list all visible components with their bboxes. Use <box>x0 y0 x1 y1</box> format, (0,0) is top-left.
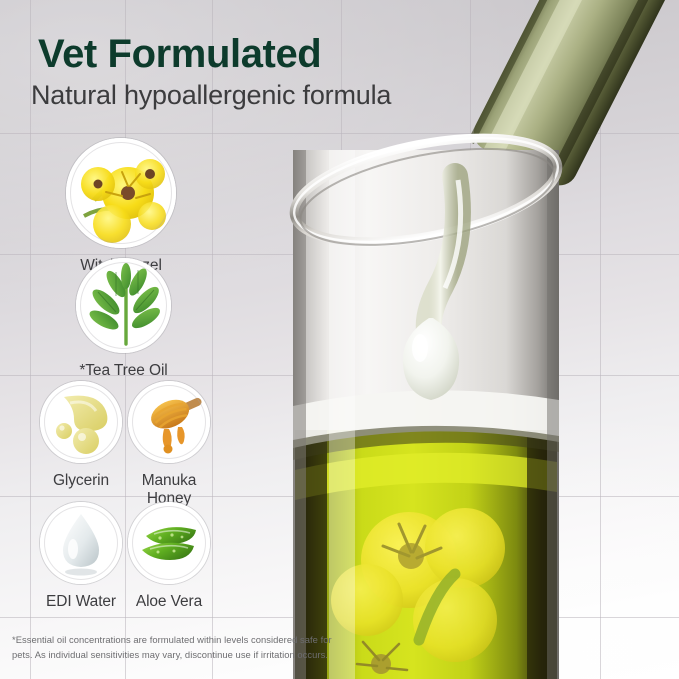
honey-dipper-icon <box>128 381 210 463</box>
ingredient-label: *Tea Tree Oil <box>79 362 167 380</box>
page-subtitle: Natural hypoallergenic formula <box>31 80 391 111</box>
yellow-flowers-icon <box>66 138 176 248</box>
footnote-disclaimer: *Essential oil concentrations are formul… <box>12 632 342 662</box>
ingredient-label: Glycerin <box>53 472 109 490</box>
glass-vial <box>293 150 559 679</box>
ingredient-edi-water: EDI Water <box>40 502 122 611</box>
ingredient-aloe-vera: Aloe Vera <box>128 502 210 611</box>
ingredient-witch-hazel: Witch Hazel <box>66 138 176 275</box>
oil-droplets-icon <box>40 381 122 463</box>
ingredient-label: EDI Water <box>46 593 116 611</box>
ingredient-manuka-honey: Manuka Honey <box>128 381 210 509</box>
product-infographic: Vet Formulated Natural hypoallergenic fo… <box>0 0 679 679</box>
ingredient-label: Aloe Vera <box>136 593 202 611</box>
ingredient-glycerin: Glycerin <box>40 381 122 490</box>
water-droplet-icon <box>40 502 122 584</box>
ingredient-tea-tree-oil: *Tea Tree Oil <box>76 258 171 380</box>
green-leaf-sprig-icon <box>76 258 171 353</box>
aloe-leaf-slices-icon <box>128 502 210 584</box>
page-title: Vet Formulated <box>38 32 321 77</box>
